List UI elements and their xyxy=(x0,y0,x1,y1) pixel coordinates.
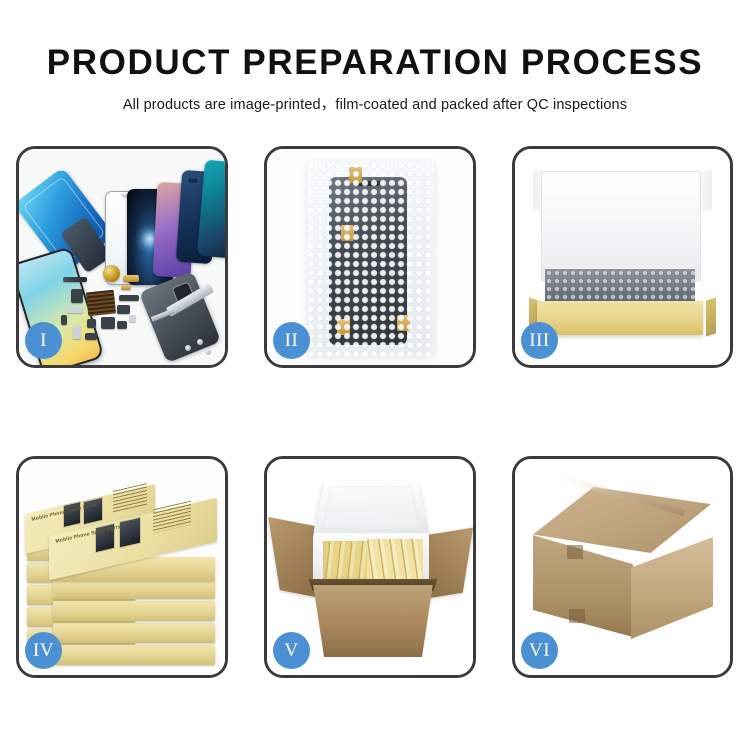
process-step-panel-2: II xyxy=(264,146,476,368)
process-step-panel-5: V xyxy=(264,456,476,678)
spare-part-icon xyxy=(87,319,96,328)
spare-part-icon xyxy=(101,317,115,329)
spare-part-icon xyxy=(123,275,139,282)
carton-tape-icon xyxy=(567,545,583,559)
spare-part-icon xyxy=(67,307,83,313)
stacked-box-icon xyxy=(53,579,215,599)
white-foam-liner-icon xyxy=(541,171,701,281)
step-badge-1: I xyxy=(25,322,62,359)
box-lid-photo-icon xyxy=(83,497,103,526)
process-step-panel-1: I xyxy=(16,146,228,368)
spare-part-icon xyxy=(73,325,81,339)
foam-box-lid-icon xyxy=(312,481,429,537)
spare-part-icon xyxy=(119,295,139,301)
spare-part-icon xyxy=(121,285,131,290)
stacked-box-icon xyxy=(53,645,215,665)
step-badge-3: III xyxy=(521,322,558,359)
process-step-panel-6: VI xyxy=(512,456,733,678)
yellow-box-front-icon xyxy=(537,301,703,335)
page-title: PRODUCT PREPARATION PROCESS xyxy=(0,0,750,84)
box-edge-right-icon xyxy=(706,297,716,336)
screw-icon xyxy=(185,345,191,351)
carton-tape-icon xyxy=(569,609,585,623)
step-badge-5: V xyxy=(273,632,310,669)
page-header: PRODUCT PREPARATION PROCESS All products… xyxy=(0,0,750,114)
gold-coil-part-icon xyxy=(103,265,120,282)
bubble-padding-icon xyxy=(545,269,695,305)
page-subtitle: All products are image-printed，film-coat… xyxy=(0,84,750,114)
carton-right-face-icon xyxy=(631,537,713,639)
spare-part-icon xyxy=(117,305,130,314)
step-badge-6: VI xyxy=(521,632,558,669)
spare-part-icon xyxy=(85,333,97,340)
spare-part-icon xyxy=(117,321,127,329)
spare-part-icon xyxy=(63,277,87,282)
chip-array-part-icon xyxy=(86,290,116,317)
bubble-texture-icon xyxy=(307,161,435,357)
spare-part-icon xyxy=(71,289,83,303)
spare-part-icon xyxy=(129,315,136,322)
stacked-box-icon xyxy=(53,601,215,621)
yellow-boxes-fill-icon xyxy=(367,539,423,583)
screw-icon xyxy=(197,339,203,345)
box-lid-photo-icon xyxy=(119,516,141,548)
process-step-panel-3: III xyxy=(512,146,733,368)
screw-icon xyxy=(205,349,211,355)
bubble-wrap-bag-icon xyxy=(307,161,435,357)
spare-part-icon xyxy=(61,315,67,325)
carton-front-panel-icon xyxy=(305,585,441,657)
stacked-box-icon xyxy=(53,623,215,643)
process-step-panel-4: Mobile Phone Spare Parts Mobile Phone Sp… xyxy=(16,456,228,678)
step-badge-4: IV xyxy=(25,632,62,669)
step-badge-2: II xyxy=(273,322,310,359)
process-step-grid: I II III xyxy=(16,146,734,678)
